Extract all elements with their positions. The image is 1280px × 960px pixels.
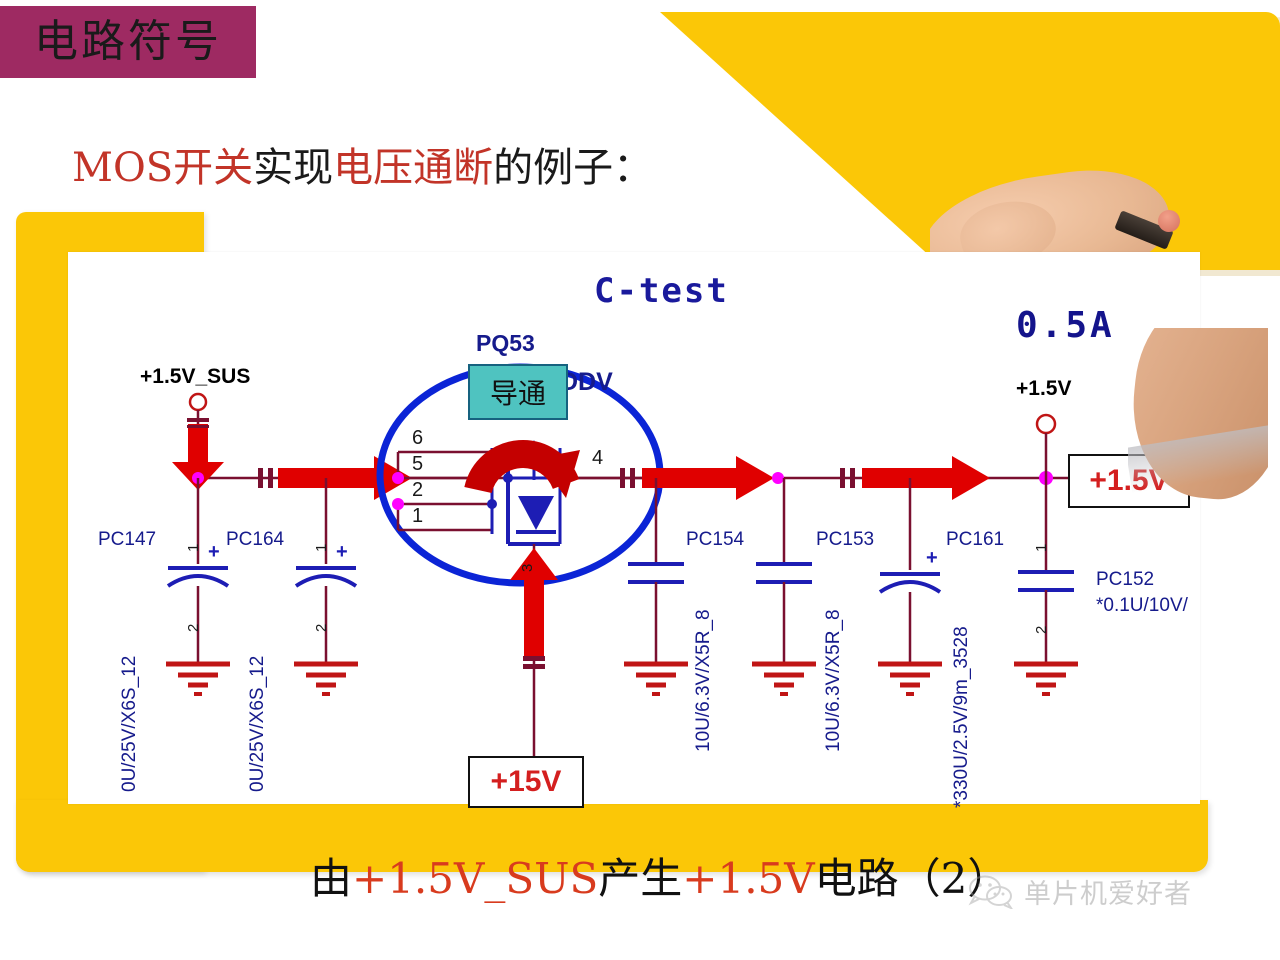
caption-part-3: 产生	[598, 854, 682, 903]
label-polarity-pc147: +	[208, 542, 220, 562]
label-ref-pc164: PC164	[226, 530, 284, 549]
label-pin-4: 4	[592, 448, 603, 468]
label-pin-pc147-top: 1	[186, 544, 201, 552]
label-output-net: +1.5V	[1016, 378, 1071, 399]
label-ref-pc153: PC153	[816, 530, 874, 549]
mosfet-state-label: 导通	[490, 372, 546, 412]
label-value-pc164: 0U/25V/X6S_12	[248, 656, 267, 792]
caption-part-1: 由	[310, 854, 352, 903]
ground-symbol-pc154	[624, 664, 688, 694]
label-value-pc147: 0U/25V/X6S_12	[120, 656, 139, 792]
ground-symbol-pc147	[166, 664, 230, 694]
schematic-panel: +1.5V_SUS PC147 1 2 + 0U/25V/X6S_12 PC16…	[68, 252, 1200, 804]
slide-heading: MOS开关实现电压通断的例子：	[72, 148, 653, 188]
label-current-rating: 0.5A	[1016, 308, 1115, 344]
ground-symbol-pc161	[878, 664, 942, 694]
label-polarity-pc164: +	[336, 542, 348, 562]
mosfet-state-badge: 导通	[468, 364, 568, 420]
gate-supply-badge: +15V	[468, 756, 584, 808]
label-pin-3: 3	[520, 564, 535, 572]
forearm-photo	[1128, 328, 1268, 518]
ground-symbol-pc153	[752, 664, 816, 694]
flow-arrow-1	[278, 456, 412, 500]
caption-part-2: +1.5V_SUS	[352, 854, 598, 903]
label-pin-5: 5	[412, 454, 423, 474]
flow-arrow-3	[862, 456, 990, 500]
label-pin-2: 2	[412, 480, 423, 500]
label-value-pc153: 10U/6.3V/X5R_8	[824, 609, 843, 752]
heading-part-4: 的例子：	[493, 145, 653, 191]
label-value-pc152: *0.1U/10V/	[1096, 596, 1188, 615]
label-ref-pc152: PC152	[1096, 570, 1154, 589]
label-input-net: +1.5V_SUS	[140, 366, 250, 387]
label-ref-pq53: PQ53	[476, 332, 535, 355]
watermark-text: 单片机爱好者	[1024, 872, 1192, 911]
slide-canvas: 电路符号 MOS开关实现电压通断的例子：	[0, 0, 1280, 960]
label-pin-pc147-bottom: 2	[186, 624, 201, 632]
label-pin-pc164-top: 1	[314, 544, 329, 552]
gate-supply-label: +15V	[491, 765, 562, 799]
heading-part-3: 电压通断	[333, 145, 493, 191]
label-pin-6: 6	[412, 428, 423, 448]
watermark: 单片机爱好者	[968, 872, 1192, 911]
label-pin-1: 1	[412, 506, 423, 526]
label-pin-pc152-bottom: 2	[1034, 626, 1049, 634]
heading-part-1: MOS开关	[72, 145, 253, 191]
label-pin-pc164-bottom: 2	[314, 624, 329, 632]
label-pin-pc152-top: 1	[1034, 544, 1049, 552]
heading-part-2: 实现	[253, 145, 333, 191]
slide-caption: 由+1.5V_SUS产生+1.5V电路（2）	[310, 858, 1009, 900]
slide-title: 电路符号	[34, 20, 222, 64]
label-value-pc154: 10U/6.3V/X5R_8	[694, 609, 713, 752]
caption-part-4: +1.5V	[682, 854, 814, 903]
label-ref-pc154: PC154	[686, 530, 744, 549]
label-c-test: C-test	[594, 274, 729, 308]
wechat-icon	[968, 875, 1014, 909]
ground-symbol-pc152	[1014, 664, 1078, 694]
label-ref-pc161: PC161	[946, 530, 1004, 549]
ground-symbol-pc164	[294, 664, 358, 694]
label-ref-pc147: PC147	[98, 530, 156, 549]
label-value-pc161: *330U/2.5V/9m_3528	[952, 626, 971, 808]
slide-title-banner: 电路符号	[0, 6, 256, 78]
label-polarity-pc161: +	[926, 548, 938, 568]
